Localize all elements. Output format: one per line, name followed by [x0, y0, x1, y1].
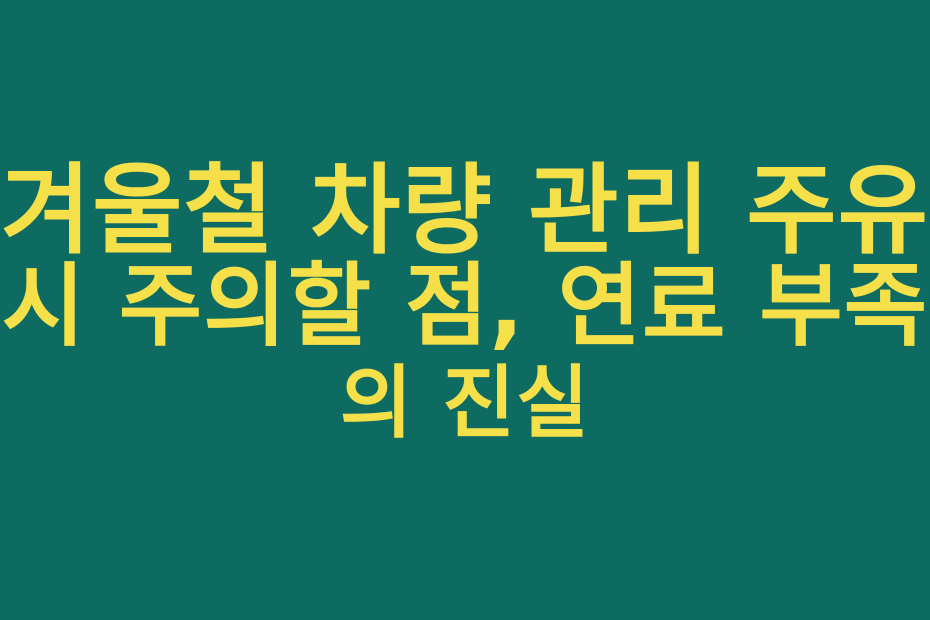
- title-line-2: 시 주의할 점, 연료 부족: [2, 259, 929, 355]
- title-block: 겨울철 차량 관리 주유 시 주의할 점, 연료 부족 의 진실: [0, 163, 930, 451]
- title-line-3: 의 진실: [340, 355, 590, 451]
- title-line-1: 겨울철 차량 관리 주유: [1, 163, 929, 259]
- thumbnail-card: 겨울철 차량 관리 주유 시 주의할 점, 연료 부족 의 진실: [0, 0, 930, 620]
